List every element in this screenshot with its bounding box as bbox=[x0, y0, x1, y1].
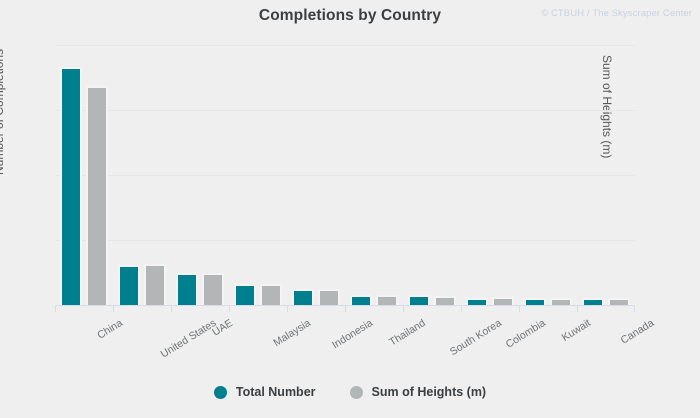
x-axis-tick bbox=[287, 305, 288, 312]
x-axis-category-label: Canada bbox=[619, 317, 657, 347]
bar-total-number[interactable] bbox=[408, 295, 430, 305]
bar-total-number[interactable] bbox=[350, 295, 372, 305]
x-axis-category-label: Thailand bbox=[387, 317, 428, 349]
bar-group bbox=[345, 45, 403, 305]
x-axis-tick bbox=[345, 305, 346, 312]
y-axis-left-title: Number of Completions bbox=[0, 49, 6, 175]
legend-label: Total Number bbox=[236, 385, 316, 399]
x-axis-tick bbox=[577, 305, 578, 312]
bar-group bbox=[229, 45, 287, 305]
bar-group bbox=[171, 45, 229, 305]
bar-total-number[interactable] bbox=[582, 298, 604, 305]
attribution-credit: © CTBUH / The Skyscraper Center bbox=[541, 8, 692, 19]
bar-group bbox=[287, 45, 345, 305]
chart-legend: Total NumberSum of Heights (m) bbox=[0, 385, 700, 399]
bar-sum-of-heights[interactable] bbox=[144, 264, 166, 305]
bar-total-number[interactable] bbox=[234, 284, 256, 305]
bar-sum-of-heights[interactable] bbox=[492, 297, 514, 305]
x-axis-tick bbox=[171, 305, 172, 312]
bar-sum-of-heights[interactable] bbox=[434, 296, 456, 305]
x-axis-category-label: Colombia bbox=[504, 317, 548, 351]
bar-total-number[interactable] bbox=[524, 298, 546, 305]
bar-sum-of-heights[interactable] bbox=[550, 298, 572, 305]
bar-total-number[interactable] bbox=[176, 273, 198, 305]
x-axis-tick bbox=[113, 305, 114, 312]
chart-container: Completions by Country © CTBUH / The Sky… bbox=[0, 0, 700, 418]
bar-sum-of-heights[interactable] bbox=[260, 284, 282, 305]
bar-group bbox=[403, 45, 461, 305]
legend-item[interactable]: Total Number bbox=[214, 385, 316, 399]
x-axis-category-label: Kuwait bbox=[560, 317, 593, 344]
x-axis-category-label: United States bbox=[159, 317, 219, 361]
bar-sum-of-heights[interactable] bbox=[376, 295, 398, 305]
x-axis-tick bbox=[519, 305, 520, 312]
bar-sum-of-heights[interactable] bbox=[202, 273, 224, 305]
bar-total-number[interactable] bbox=[60, 67, 82, 305]
x-axis-tick bbox=[461, 305, 462, 312]
x-axis-tick bbox=[55, 305, 56, 312]
bar-group bbox=[461, 45, 519, 305]
bar-sum-of-heights[interactable] bbox=[608, 298, 630, 305]
plot-area: 00246 4004812 8007219 2009625 600ChinaUn… bbox=[55, 45, 635, 305]
bar-group bbox=[519, 45, 577, 305]
legend-swatch-circle-icon bbox=[214, 386, 227, 399]
x-axis-category-label: Indonesia bbox=[330, 317, 375, 351]
x-axis-category-label: South Korea bbox=[448, 317, 504, 358]
x-axis-tick bbox=[403, 305, 404, 312]
bar-total-number[interactable] bbox=[466, 298, 488, 305]
legend-item[interactable]: Sum of Heights (m) bbox=[350, 385, 487, 399]
x-axis-category-label: Malaysia bbox=[271, 317, 313, 349]
bar-group bbox=[577, 45, 635, 305]
bar-sum-of-heights[interactable] bbox=[86, 86, 108, 305]
legend-swatch-circle-icon bbox=[350, 386, 363, 399]
bar-total-number[interactable] bbox=[292, 289, 314, 305]
bar-sum-of-heights[interactable] bbox=[318, 289, 340, 305]
legend-label: Sum of Heights (m) bbox=[372, 385, 487, 399]
bar-group bbox=[113, 45, 171, 305]
x-axis-tick bbox=[634, 305, 635, 312]
bar-group bbox=[55, 45, 113, 305]
bar-total-number[interactable] bbox=[118, 265, 140, 305]
x-axis-tick bbox=[229, 305, 230, 312]
x-axis-category-label: China bbox=[95, 317, 125, 342]
